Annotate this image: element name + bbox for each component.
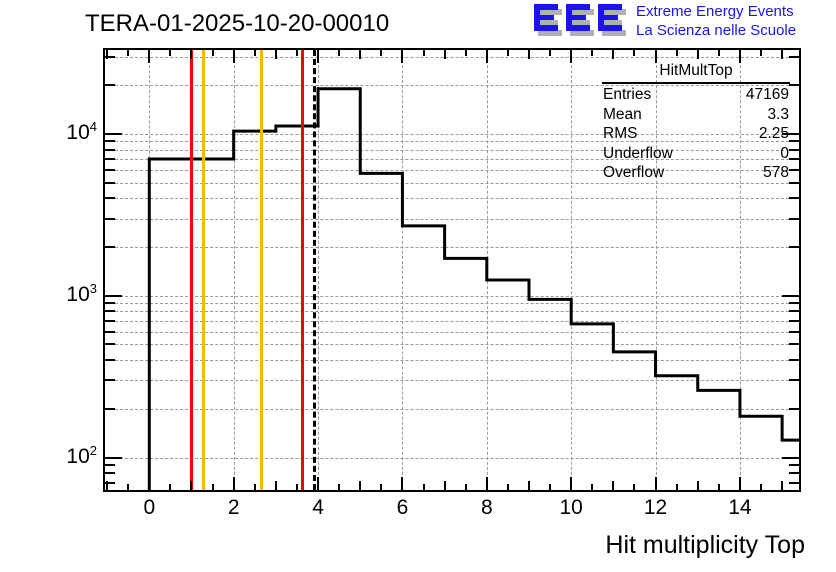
x-axis-top-tick (570, 50, 572, 63)
y-axis-right-tick (789, 343, 799, 345)
x-axis-top-tick (444, 50, 446, 59)
x-axis-top-tick (212, 50, 214, 56)
x-axis-major-tick (486, 477, 488, 490)
x-axis-tick-label: 4 (312, 496, 324, 520)
y-axis-minor-tick (105, 56, 115, 58)
x-axis-major-tick (148, 477, 150, 490)
x-axis-major-tick (401, 477, 403, 490)
root-canvas: TERA-01-2025-10-20-00010 Extreme Energy … (0, 0, 836, 572)
y-axis-right-tick (789, 320, 799, 322)
x-axis-minor-tick (254, 484, 256, 490)
y-axis-minor-tick (105, 482, 115, 484)
stats-row-key: Underflow (603, 144, 673, 164)
y-axis-right-tick (789, 302, 799, 304)
stats-row-value: 47169 (746, 85, 789, 105)
y-axis-minor-tick (105, 140, 115, 142)
y-axis-right-tick (782, 457, 799, 459)
x-axis-top-tick (760, 50, 762, 56)
x-axis-minor-tick (633, 484, 635, 490)
y-axis-minor-tick (105, 169, 115, 171)
x-axis-top-tick (317, 50, 319, 63)
y-axis-minor-tick (105, 464, 115, 466)
x-axis-minor-tick (612, 481, 614, 490)
x-axis-tick-label: 6 (397, 496, 409, 520)
y-axis-tick-exponent: 2 (90, 443, 97, 458)
x-axis-top-tick (169, 50, 171, 56)
x-axis-minor-tick (380, 484, 382, 490)
y-axis-right-tick (789, 359, 799, 361)
y-axis-minor-tick (105, 182, 115, 184)
x-axis-tick-label: 10 (559, 496, 582, 520)
x-axis-minor-tick (781, 481, 783, 490)
y-axis-tick-base: 10 (66, 283, 89, 306)
x-axis-tick-label: 2 (228, 496, 240, 520)
x-axis-minor-tick (528, 481, 530, 490)
stats-row-key: Entries (603, 85, 651, 105)
x-axis-top-tick (148, 50, 150, 63)
x-axis-top-tick (338, 50, 340, 56)
stats-row: RMS2.25 (596, 124, 796, 144)
x-axis-top-tick (697, 50, 699, 59)
x-axis-top-tick (380, 50, 382, 56)
y-axis-minor-tick (105, 302, 115, 304)
x-axis-top-tick (718, 50, 720, 56)
x-axis-minor-tick (296, 484, 298, 490)
y-axis-minor-tick (105, 359, 115, 361)
y-axis-major-tick (105, 457, 122, 459)
x-axis-minor-tick (275, 481, 277, 490)
y-axis-right-tick (789, 408, 799, 410)
stats-row: Overflow578 (596, 163, 796, 183)
x-axis-top-tick (781, 50, 783, 59)
x-axis-minor-tick (127, 484, 129, 490)
x-axis-minor-tick (190, 481, 192, 490)
x-axis-minor-tick (423, 484, 425, 490)
x-axis-top-tick (359, 50, 361, 59)
y-axis-right-tick (789, 218, 799, 220)
y-axis-major-tick (105, 295, 122, 297)
y-axis-minor-tick (105, 472, 115, 474)
y-axis-minor-tick (105, 246, 115, 248)
x-axis-minor-tick (549, 484, 551, 490)
x-axis-minor-tick (760, 484, 762, 490)
y-axis-minor-tick (105, 320, 115, 322)
x-axis-top-tick (401, 50, 403, 63)
y-axis-right-tick (789, 56, 799, 58)
x-axis-minor-tick (338, 484, 340, 490)
x-axis-top-tick (486, 50, 488, 63)
x-axis-top-tick (465, 50, 467, 56)
y-axis-tick-label: 104 (66, 119, 97, 145)
stats-row: Entries47169 (596, 85, 796, 105)
x-axis-top-tick (612, 50, 614, 59)
x-axis-major-tick (739, 477, 741, 490)
stats-row-value: 0 (780, 144, 789, 164)
y-axis-minor-tick (105, 84, 115, 86)
y-axis-minor-tick (105, 158, 115, 160)
stats-title: HitMultTop (596, 62, 796, 81)
y-axis-right-tick (789, 331, 799, 333)
x-axis-top-tick (233, 50, 235, 63)
x-axis-top-tick (190, 50, 192, 59)
x-axis-major-tick (233, 477, 235, 490)
y-axis-tick-label: 103 (66, 281, 97, 307)
stats-row-key: Overflow (603, 163, 664, 183)
y-axis-right-tick (789, 246, 799, 248)
y-axis-major-tick (105, 133, 122, 135)
x-axis-minor-tick (697, 481, 699, 490)
y-axis-right-tick (789, 472, 799, 474)
x-axis-top-tick (275, 50, 277, 59)
x-axis-top-tick (528, 50, 530, 59)
x-axis-top-tick (591, 50, 593, 56)
stats-box: HitMultTop Entries47169Mean3.3RMS2.25Und… (596, 62, 796, 183)
x-axis-top-tick (127, 50, 129, 56)
x-axis-major-tick (655, 477, 657, 490)
y-axis-right-tick (789, 197, 799, 199)
y-axis-minor-tick (105, 331, 115, 333)
y-axis-minor-tick (105, 408, 115, 410)
x-axis-top-tick (549, 50, 551, 56)
y-axis-minor-tick (105, 343, 115, 345)
x-axis-title: Hit multiplicity Top (605, 531, 805, 560)
y-axis-right-tick (789, 482, 799, 484)
y-axis-minor-tick (105, 218, 115, 220)
x-axis-minor-tick (359, 481, 361, 490)
y-axis-right-tick (789, 464, 799, 466)
y-axis-right-tick (789, 379, 799, 381)
stats-row: Underflow0 (596, 144, 796, 164)
x-axis-top-tick (633, 50, 635, 56)
y-axis-minor-tick (105, 197, 115, 199)
x-axis-minor-tick (465, 484, 467, 490)
stats-row-value: 578 (763, 163, 789, 183)
x-axis-top-tick (676, 50, 678, 56)
x-axis-minor-tick (212, 484, 214, 490)
y-axis-tick-base: 10 (66, 121, 89, 144)
y-axis-tick-label: 102 (66, 443, 97, 469)
stats-row: Mean3.3 (596, 105, 796, 125)
y-axis-minor-tick (105, 379, 115, 381)
x-axis-minor-tick (444, 481, 446, 490)
y-axis-tick-exponent: 4 (90, 119, 97, 134)
x-axis-minor-tick (169, 484, 171, 490)
x-axis-tick-label: 0 (143, 496, 155, 520)
x-axis-minor-tick (507, 484, 509, 490)
x-axis-minor-tick (676, 484, 678, 490)
x-axis-minor-tick (718, 484, 720, 490)
y-axis-tick-exponent: 3 (90, 281, 97, 296)
x-axis-tick-label: 8 (481, 496, 493, 520)
y-axis-right-tick (789, 310, 799, 312)
y-axis-right-tick (782, 295, 799, 297)
x-axis-tick-label: 12 (644, 496, 667, 520)
y-axis-tick-base: 10 (66, 445, 89, 468)
x-axis-minor-tick (591, 484, 593, 490)
stats-row-value: 3.3 (767, 105, 789, 125)
x-axis-top-tick (423, 50, 425, 56)
stats-divider (602, 82, 790, 84)
x-axis-top-tick (507, 50, 509, 56)
x-axis-major-tick (570, 477, 572, 490)
stats-row-key: Mean (603, 105, 642, 125)
x-axis-tick-label: 14 (728, 496, 751, 520)
y-axis-minor-tick (105, 310, 115, 312)
x-axis-top-tick (254, 50, 256, 56)
x-axis-major-tick (317, 477, 319, 490)
y-axis-minor-tick (105, 149, 115, 151)
stats-rows: Entries47169Mean3.3RMS2.25Underflow0Over… (596, 85, 796, 183)
stats-row-value: 2.25 (759, 124, 789, 144)
stats-row-key: RMS (603, 124, 637, 144)
x-axis-top-tick (296, 50, 298, 56)
